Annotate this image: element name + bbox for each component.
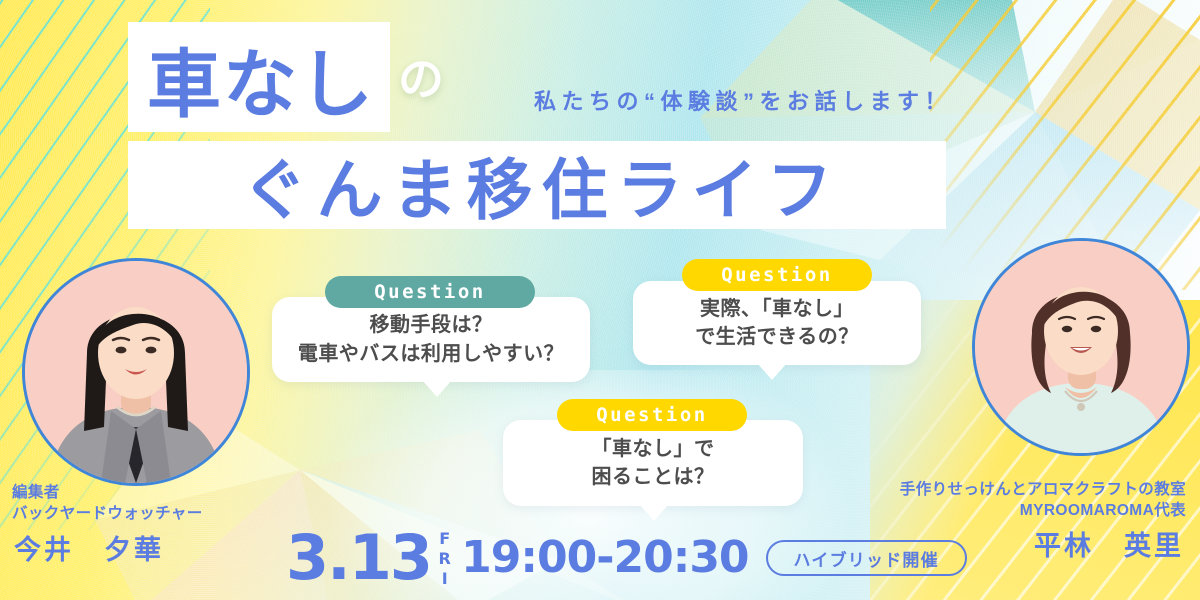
question-bubble-1: 移動手段は？ 電車やバスは利用しやすい？ bbox=[272, 297, 590, 382]
speaker-right-role: 手作りせっけんとアロマクラフトの教室 MYROOMAROMA代表 bbox=[900, 480, 1186, 521]
question-3-line-1: 「車なし」で bbox=[592, 435, 715, 463]
question-bubble-3-tail bbox=[639, 504, 669, 521]
title-line2: ぐんま移住ライフ bbox=[128, 141, 946, 229]
speaker-right-role-line-2: MYROOMAROMA代表 bbox=[900, 501, 1186, 522]
portrait-illustration-right bbox=[975, 241, 1187, 453]
question-3-label: Question bbox=[557, 399, 747, 431]
avatar-right bbox=[972, 238, 1190, 456]
question-2-line-1: 実際、「車なし」 bbox=[700, 295, 854, 323]
event-day-of-week: FRI bbox=[437, 529, 452, 589]
event-date-bar: 3.13 FRI 19:00-20:30 ハイブリッド開催 bbox=[286, 529, 967, 587]
speaker-left-role-line-1: 編集者 bbox=[12, 483, 203, 504]
portrait-illustration-left bbox=[25, 261, 247, 483]
title-particle-no: の bbox=[398, 56, 444, 102]
speaker-right-role-line-1: 手作りせっけんとアロマクラフトの教室 bbox=[900, 480, 1186, 501]
question-1-line-2: 電車やバスは利用しやすい？ bbox=[298, 340, 564, 368]
question-3-line-2: 困ることは？ bbox=[592, 463, 715, 491]
question-2-label: Question bbox=[682, 259, 872, 291]
avatar-left bbox=[22, 258, 250, 486]
question-bubble-2-tail bbox=[757, 363, 787, 380]
title-line1: 車なし bbox=[139, 30, 383, 126]
event-format-badge: ハイブリッド開催 bbox=[766, 540, 967, 576]
speaker-left-role: 編集者 バックヤードウォッチャー bbox=[12, 483, 203, 524]
tagline: 私たちの“体験談”をお話します！ bbox=[534, 84, 952, 116]
event-time: 19:00-20:30 bbox=[461, 536, 748, 580]
question-2-line-2: で生活できるの？ bbox=[695, 323, 859, 351]
question-bubble-1-tail bbox=[422, 380, 452, 397]
speaker-left-name: 今井 夕華 bbox=[14, 528, 164, 567]
question-bubble-3: 「車なし」で 困ることは？ bbox=[503, 420, 803, 506]
speaker-right-name: 平林 英里 bbox=[1034, 524, 1184, 563]
question-bubble-2: 実際、「車なし」 で生活できるの？ bbox=[633, 281, 921, 365]
question-1-line-1: 移動手段は？ bbox=[370, 311, 493, 339]
event-date: 3.13 bbox=[286, 527, 431, 589]
event-banner: 車なし の ぐんま移住ライフ 私たちの“体験談”をお話します！ bbox=[0, 0, 1200, 600]
question-1-label: Question bbox=[325, 276, 535, 308]
speaker-left-role-line-2: バックヤードウォッチャー bbox=[12, 504, 203, 525]
